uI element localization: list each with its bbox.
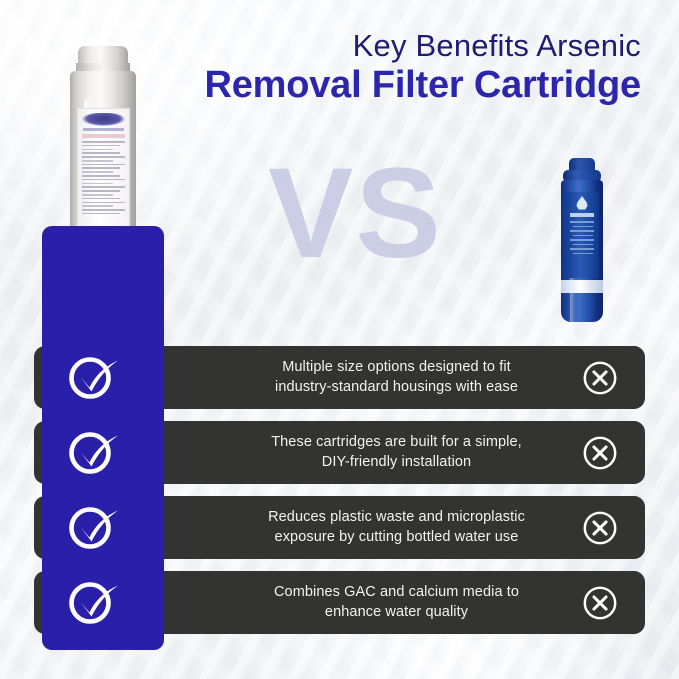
row-text-line-1: Reduces plastic waste and microplastic: [204, 508, 589, 528]
cross-circle-icon: [581, 584, 619, 622]
row-text: Combines GAC and calcium media to enhanc…: [204, 583, 589, 622]
row-text-line-1: Multiple size options designed to fit: [204, 358, 589, 378]
row-text: Reduces plastic waste and microplastic e…: [204, 508, 589, 547]
row-text: Multiple size options designed to fit in…: [204, 358, 589, 397]
cross-circle-icon: [581, 359, 619, 397]
row-text-line-2: DIY-friendly installation: [204, 453, 589, 473]
row-text-line-2: enhance water quality: [204, 603, 589, 623]
check-circle-icon: [66, 352, 122, 402]
row-text-line-2: exposure by cutting bottled water use: [204, 528, 589, 548]
row-text: These cartridges are built for a simple,…: [204, 433, 589, 472]
cross-circle-icon: [581, 509, 619, 547]
row-text-line-2: industry-standard housings with ease: [204, 378, 589, 398]
row-text-line-1: Combines GAC and calcium media to: [204, 583, 589, 603]
check-circle-icon: [66, 427, 122, 477]
cross-circle-icon: [581, 434, 619, 472]
product-comparison-infographic: Key Benefits Arsenic Removal Filter Cart…: [0, 0, 679, 679]
check-circle-icon: [66, 502, 122, 552]
check-circle-icon: [66, 577, 122, 627]
row-text-line-1: These cartridges are built for a simple,: [204, 433, 589, 453]
